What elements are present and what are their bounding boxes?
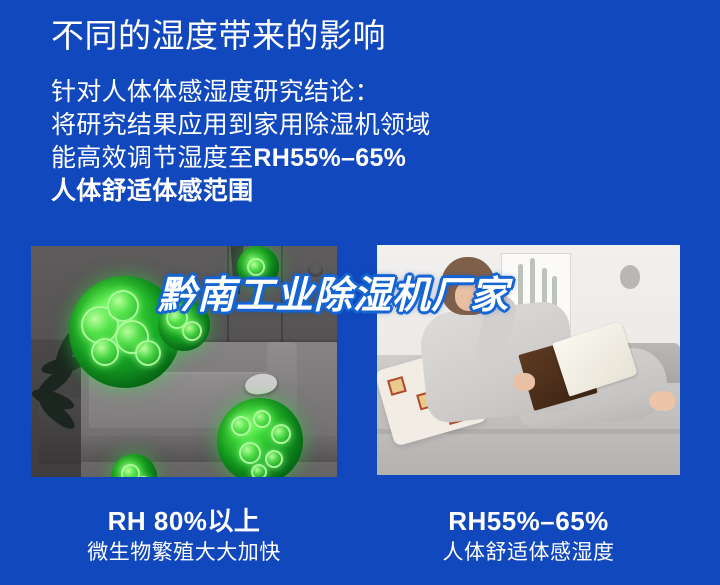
- microbe-cell-icon: [265, 450, 283, 468]
- microbe-cell-icon: [239, 442, 261, 464]
- body-line-2: 将研究结果应用到家用除湿机领域: [51, 109, 481, 142]
- microbe-cell-icon: [135, 340, 161, 366]
- microbe-sphere-icon: [217, 398, 303, 477]
- caption-left-main: RH 80%以上: [31, 505, 337, 538]
- pillow-motif-icon: [387, 376, 407, 396]
- microbe-cell-icon: [182, 321, 202, 341]
- caption-left-sub: 微生物繁殖大大加快: [31, 538, 337, 568]
- caption-right: RH55%–65% 人体舒适体感湿度: [377, 505, 680, 568]
- body-line-3-highlight: RH55%–65%: [253, 144, 406, 172]
- microbe-cell-icon: [253, 410, 271, 428]
- body-line-3-prefix: 能高效调节湿度至: [51, 144, 253, 172]
- poster-root: 不同的湿度带来的影响 针对人体体感湿度研究结论： 将研究结果应用到家用除湿机领域…: [0, 0, 720, 585]
- microbe-cell-icon: [271, 424, 291, 444]
- microbe-cell-icon: [251, 464, 267, 477]
- caption-right-sub: 人体舒适体感湿度: [377, 538, 680, 568]
- body-line-3: 能高效调节湿度至RH55%–65%: [51, 142, 481, 175]
- body-copy-block: 针对人体体感湿度研究结论： 将研究结果应用到家用除湿机领域 能高效调节湿度至RH…: [51, 76, 481, 208]
- watermark-text: 黔南工业除湿机厂家: [158, 272, 509, 320]
- microbe-cell-icon: [231, 416, 251, 436]
- person-foot: [649, 391, 675, 411]
- wall-speaker-icon: [620, 265, 640, 289]
- body-line-1: 针对人体体感湿度研究结论：: [51, 76, 481, 109]
- caption-right-main: RH55%–65%: [377, 505, 680, 538]
- microbe-cell-icon: [91, 338, 119, 366]
- person-hand-lower: [513, 373, 535, 391]
- caption-left: RH 80%以上 微生物繁殖大大加快: [31, 505, 337, 568]
- microbe-cell-icon: [107, 290, 139, 322]
- microbe-cell-icon: [121, 464, 140, 477]
- page-title: 不同的湿度带来的影响: [51, 14, 386, 58]
- body-line-4: 人体舒适体感范围: [51, 175, 481, 208]
